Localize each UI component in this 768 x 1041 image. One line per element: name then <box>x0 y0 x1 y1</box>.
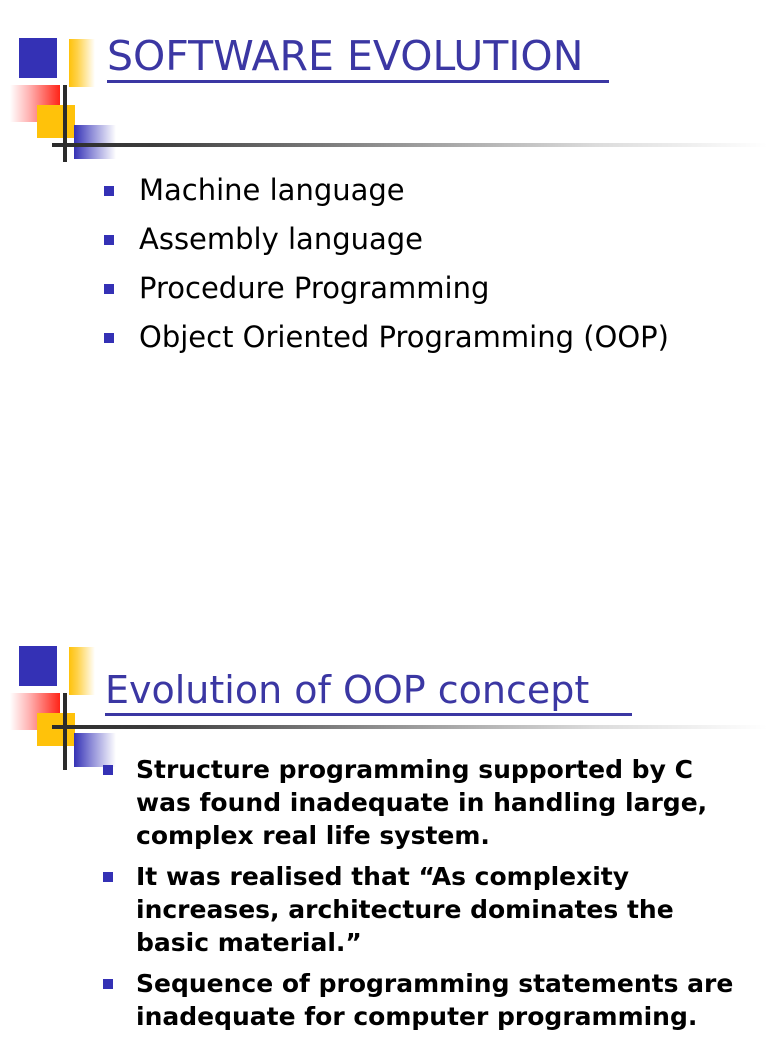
motif-yellow-square <box>37 105 75 138</box>
motif-blue-gradient <box>74 125 116 159</box>
page-title: Evolution of OOP concept <box>105 671 589 709</box>
document-page: SOFTWARE EVOLUTION Machine language Asse… <box>0 0 768 1024</box>
title-underline <box>105 713 632 716</box>
square-bullet-icon <box>104 186 114 196</box>
title-underline <box>107 80 609 83</box>
page-title: SOFTWARE EVOLUTION <box>107 36 583 77</box>
motif-yellow-square <box>37 713 75 746</box>
motif-blue-square <box>19 38 57 78</box>
list-item: Assembly language <box>104 222 744 256</box>
list-item: Object Oriented Programming (OOP) <box>104 320 744 354</box>
square-bullet-icon <box>104 235 114 245</box>
bullet-list: Machine language Assembly language Proce… <box>104 173 744 369</box>
list-item: It was realised that “As complexity incr… <box>103 860 753 959</box>
header-divider <box>52 725 768 729</box>
list-item-label: Procedure Programming <box>139 271 744 305</box>
square-bullet-icon <box>104 284 114 294</box>
slide-software-evolution: SOFTWARE EVOLUTION Machine language Asse… <box>0 0 768 600</box>
list-item-label: Object Oriented Programming (OOP) <box>139 320 744 354</box>
list-item: Procedure Programming <box>104 271 744 305</box>
motif-vertical-line <box>63 693 67 770</box>
motif-blue-square <box>19 646 57 686</box>
square-bullet-icon <box>104 333 114 343</box>
list-item: Machine language <box>104 173 744 207</box>
list-item-label: Assembly language <box>139 222 744 256</box>
bullet-list: Structure programming supported by C was… <box>103 753 753 1041</box>
square-bullet-icon <box>103 765 113 775</box>
list-item: Structure programming supported by C was… <box>103 753 753 852</box>
square-bullet-icon <box>103 872 113 882</box>
list-item: Sequence of programming statements are i… <box>103 967 753 1033</box>
header-divider <box>52 143 768 147</box>
list-item-label: Sequence of programming statements are i… <box>136 967 753 1033</box>
list-item-label: Structure programming supported by C was… <box>136 753 753 852</box>
list-item-label: It was realised that “As complexity incr… <box>136 860 753 959</box>
motif-vertical-line <box>63 85 67 162</box>
motif-yellow-bar <box>69 39 95 87</box>
list-item-label: Machine language <box>139 173 744 207</box>
square-bullet-icon <box>103 979 113 989</box>
motif-yellow-bar <box>69 647 95 695</box>
motif-red-square <box>10 85 60 122</box>
